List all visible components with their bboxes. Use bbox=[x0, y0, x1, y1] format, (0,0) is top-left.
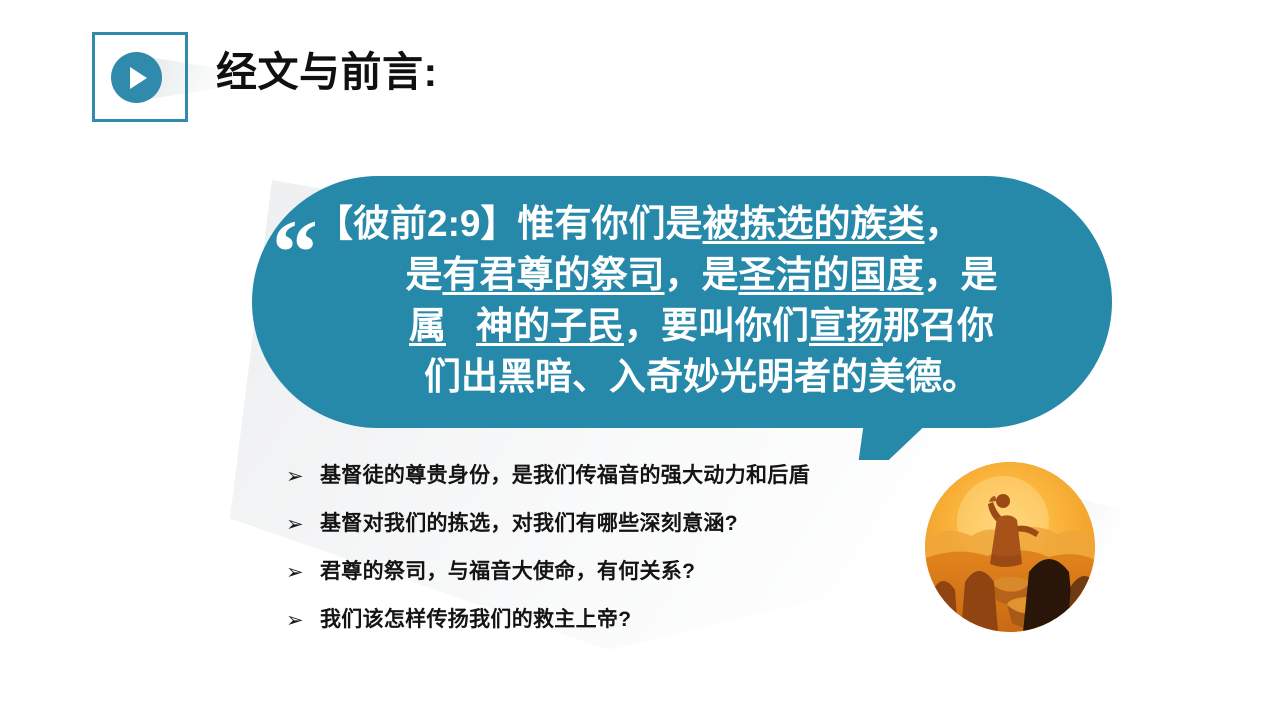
list-item[interactable]: ➢基督对我们的拣选，对我们有哪些深刻意涵? bbox=[286, 510, 926, 538]
quote-scripture-text: 【彼前2:9】惟有你们是被拣选的族类，是有君尊的祭司，是圣洁的国度，是属神的子民… bbox=[314, 198, 1089, 402]
quote-emphasis: 有君尊的祭司 bbox=[443, 254, 665, 295]
quote-segment: ，要叫你们 bbox=[624, 305, 809, 346]
quote-emphasis: 圣洁的国度 bbox=[739, 254, 924, 295]
quote-segment: 那召你 bbox=[883, 305, 994, 346]
quote-emphasis: 神的子民 bbox=[476, 305, 624, 346]
play-button-icon[interactable] bbox=[111, 52, 162, 103]
quote-line-2: 是有君尊的祭司，是圣洁的国度，是 bbox=[314, 249, 1089, 300]
list-item-label: 我们该怎样传扬我们的救主上帝? bbox=[320, 606, 631, 634]
quote-segment: ， bbox=[924, 203, 961, 244]
arrow-bullet-icon: ➢ bbox=[286, 462, 320, 490]
quote-bubble: “ 【彼前2:9】惟有你们是被拣选的族类，是有君尊的祭司，是圣洁的国度，是属神的… bbox=[252, 176, 1112, 428]
list-item-label: 君尊的祭司，与福音大使命，有何关系? bbox=[320, 558, 695, 586]
quote-line-1: 【彼前2:9】惟有你们是被拣选的族类， bbox=[314, 198, 1089, 249]
quote-emphasis: 属 bbox=[409, 305, 446, 346]
quote-emphasis: 被拣选的族类 bbox=[702, 203, 924, 244]
arrow-bullet-icon: ➢ bbox=[286, 558, 320, 586]
page-title: 经文与前言: bbox=[216, 48, 438, 97]
list-item[interactable]: ➢我们该怎样传扬我们的救主上帝? bbox=[286, 606, 926, 634]
list-item-label: 基督对我们的拣选，对我们有哪些深刻意涵? bbox=[320, 510, 738, 538]
slide-header: 经文与前言: bbox=[0, 0, 1280, 150]
quote-segment: 是 bbox=[406, 254, 443, 295]
bullet-list: ➢基督徒的尊贵身份，是我们传福音的强大动力和后盾➢基督对我们的拣选，对我们有哪些… bbox=[286, 462, 926, 654]
quote-line-4: 们出黑暗、入奇妙光明者的美德。 bbox=[314, 351, 1089, 402]
quote-segment: ，是 bbox=[924, 254, 998, 295]
list-item[interactable]: ➢君尊的祭司，与福音大使命，有何关系? bbox=[286, 558, 926, 586]
slide-canvas: 经文与前言: “ 【彼前2:9】惟有你们是被拣选的族类，是有君尊的祭司，是圣洁的… bbox=[0, 0, 1280, 720]
arrow-bullet-icon: ➢ bbox=[286, 510, 320, 538]
arrow-bullet-icon: ➢ bbox=[286, 606, 320, 634]
quote-emphasis: 宣扬 bbox=[809, 305, 883, 346]
quote-segment: 们出黑暗、入奇妙光明者的美德。 bbox=[424, 356, 979, 397]
quote-segment: ，是 bbox=[665, 254, 739, 295]
play-triangle-icon bbox=[130, 67, 147, 89]
quote-line-3: 属神的子民，要叫你们宣扬那召你 bbox=[314, 300, 1089, 351]
quote-segment: 【彼前2:9】惟有你们是 bbox=[316, 203, 702, 244]
list-item-label: 基督徒的尊贵身份，是我们传福音的强大动力和后盾 bbox=[320, 462, 810, 490]
quote-mark-icon: “ bbox=[272, 206, 316, 298]
list-item[interactable]: ➢基督徒的尊贵身份，是我们传福音的强大动力和后盾 bbox=[286, 462, 926, 490]
illustration-svg bbox=[925, 462, 1095, 632]
jesus-preaching-crowd-circle-image bbox=[925, 462, 1095, 632]
